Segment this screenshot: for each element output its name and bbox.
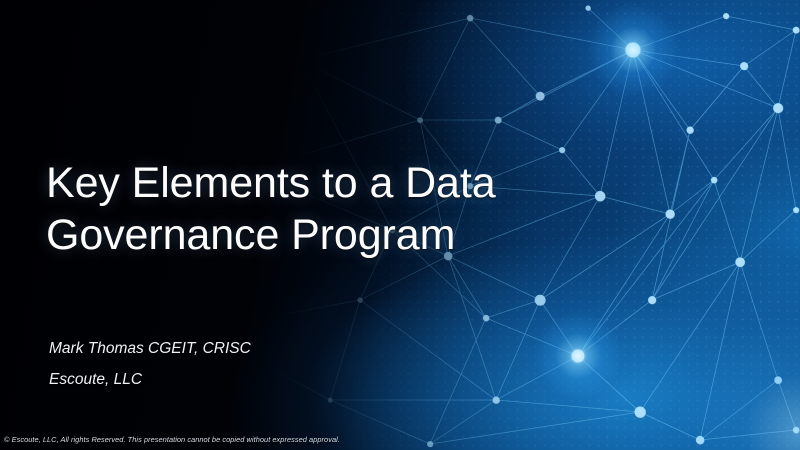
slide-title: Key Elements to a Data Governance Progra… xyxy=(46,157,606,261)
footer-copyright-notice: © Escoute, LLC, All rights Reserved. Thi… xyxy=(4,435,340,445)
slide-subtitle: Mark Thomas CGEIT, CRISC Escoute, LLC xyxy=(49,333,469,395)
presentation-title-slide: Key Elements to a Data Governance Progra… xyxy=(0,0,800,450)
presenter-organization: Escoute, LLC xyxy=(49,364,469,395)
presenter-name: Mark Thomas CGEIT, CRISC xyxy=(49,333,469,364)
slide-content: Key Elements to a Data Governance Progra… xyxy=(0,0,800,450)
